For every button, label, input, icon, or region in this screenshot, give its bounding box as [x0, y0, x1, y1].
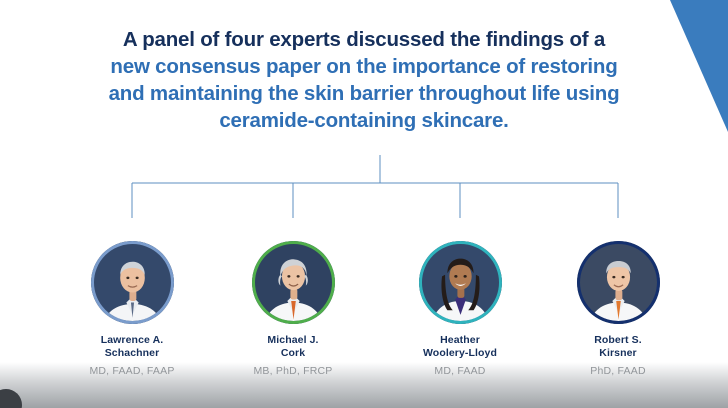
headline-line-3: and maintaining the skin barrier through… [0, 80, 728, 107]
expert-name-line-1: Michael J. [267, 334, 318, 346]
avatar [419, 241, 502, 324]
expert-credentials: MB, PhD, FRCP [208, 365, 378, 377]
expert-name-line-2: Cork [281, 347, 305, 359]
headline-line-1: A panel of four experts discussed the fi… [0, 26, 728, 53]
expert-name: Michael J. Cork [208, 334, 378, 359]
expert-card[interactable]: Heather Woolery-Lloyd MD, FAAD [375, 241, 545, 377]
expert-name: Heather Woolery-Lloyd [375, 334, 545, 359]
expert-name: Lawrence A. Schachner [47, 334, 217, 359]
expert-name-line-2: Kirsner [599, 347, 636, 359]
expert-credentials: PhD, FAAD [533, 365, 703, 377]
player-corner-control-icon[interactable] [0, 389, 22, 408]
avatar-ring [91, 241, 174, 324]
avatar-ring [252, 241, 335, 324]
expert-name-line-1: Heather [440, 334, 480, 346]
presentation-slide: A panel of four experts discussed the fi… [0, 0, 728, 408]
avatar [91, 241, 174, 324]
expert-card[interactable]: Michael J. Cork MB, PhD, FRCP [208, 241, 378, 377]
slide-headline: A panel of four experts discussed the fi… [0, 26, 728, 134]
avatar-ring [577, 241, 660, 324]
headline-line-4: ceramide-containing skincare. [0, 107, 728, 134]
avatar-ring [419, 241, 502, 324]
expert-name-line-2: Schachner [105, 347, 160, 359]
expert-credentials: MD, FAAD, FAAP [47, 365, 217, 377]
headline-line-2: new consensus paper on the importance of… [0, 53, 728, 80]
expert-name: Robert S. Kirsner [533, 334, 703, 359]
avatar [252, 241, 335, 324]
expert-name-line-2: Woolery-Lloyd [423, 347, 497, 359]
avatar [577, 241, 660, 324]
expert-credentials: MD, FAAD [375, 365, 545, 377]
expert-card[interactable]: Robert S. Kirsner PhD, FAAD [533, 241, 703, 377]
expert-name-line-1: Robert S. [594, 334, 642, 346]
expert-name-line-1: Lawrence A. [101, 334, 164, 346]
expert-card[interactable]: Lawrence A. Schachner MD, FAAD, FAAP [47, 241, 217, 377]
